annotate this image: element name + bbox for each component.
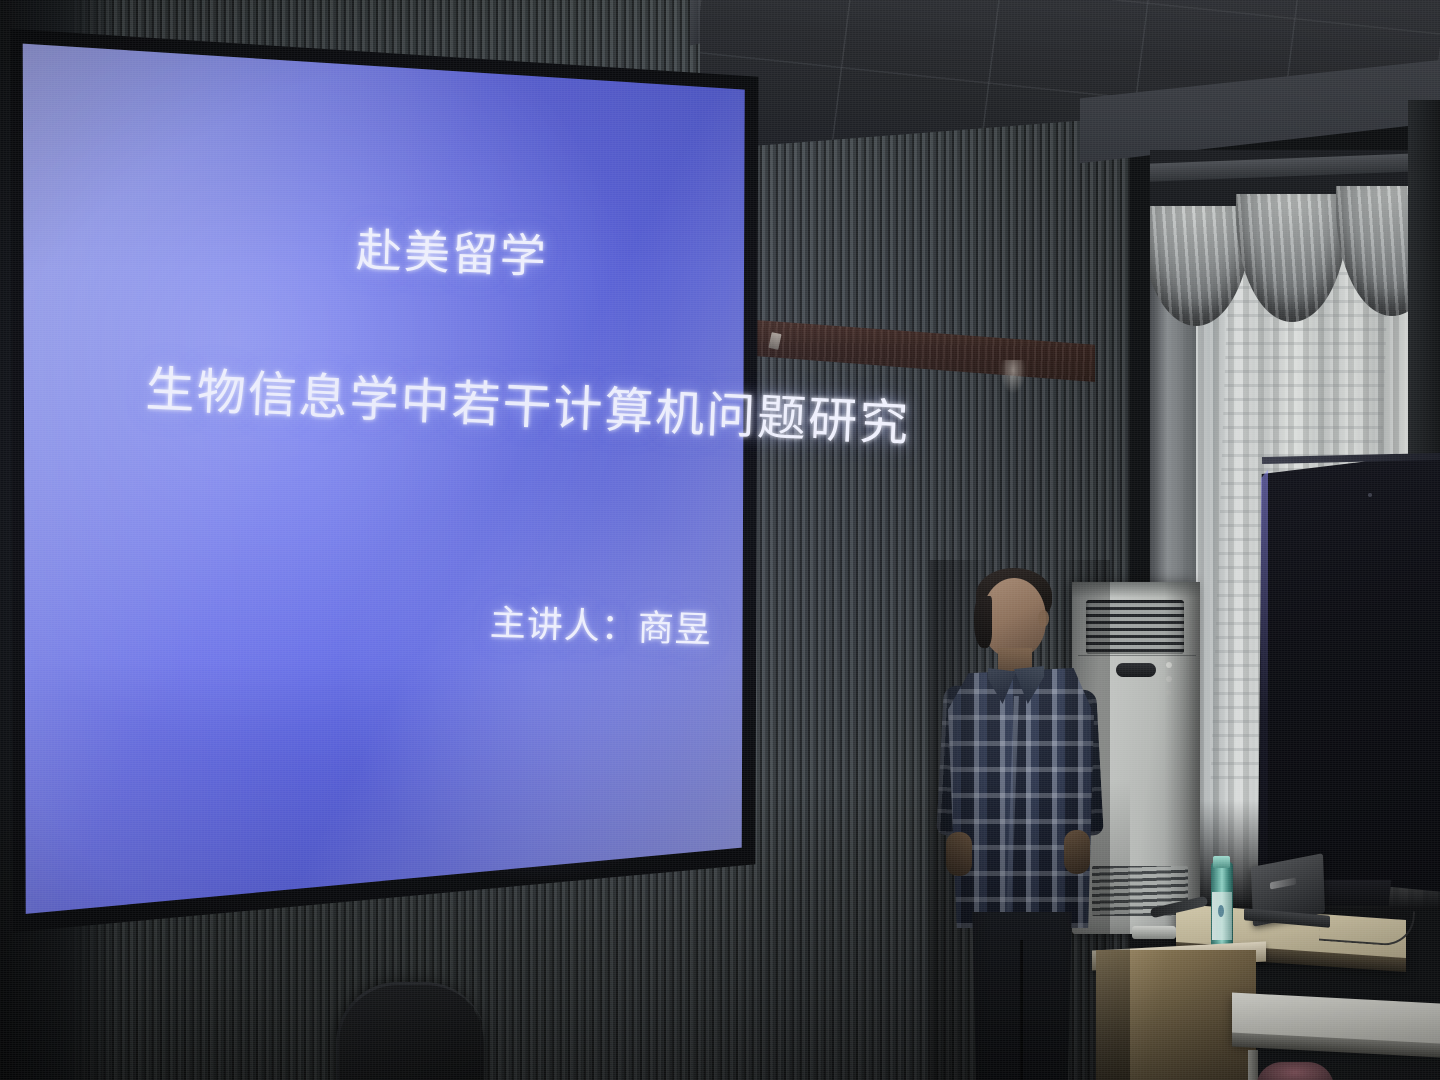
air-conditioner-led [1166,690,1171,695]
display-panel-indicator [1368,493,1372,497]
lecture-room-photo: 赴美留学 生物信息学中若干计算机问题研究 主讲人：商昱 [0,0,1440,1080]
curtain-valance [1150,190,1440,325]
water-bottle-label-mark [1218,905,1224,917]
side-table-leg [1248,1050,1258,1080]
microphone-base [1132,926,1176,939]
dark-display-panel[interactable] [1258,452,1440,892]
projection-screen[interactable] [6,16,766,936]
valance-swag [1236,194,1348,322]
air-conditioner-led [1166,676,1172,682]
water-bottle-cap [1213,856,1230,868]
curtain-rod [1150,152,1440,182]
air-conditioner-display-badge [1116,663,1156,677]
air-conditioner-led [1166,662,1172,668]
presenter-ear [1038,610,1049,627]
presenter-hair-side [974,596,992,648]
wood-rail-smudge [1000,360,1026,394]
foreground-object [1256,1062,1334,1080]
